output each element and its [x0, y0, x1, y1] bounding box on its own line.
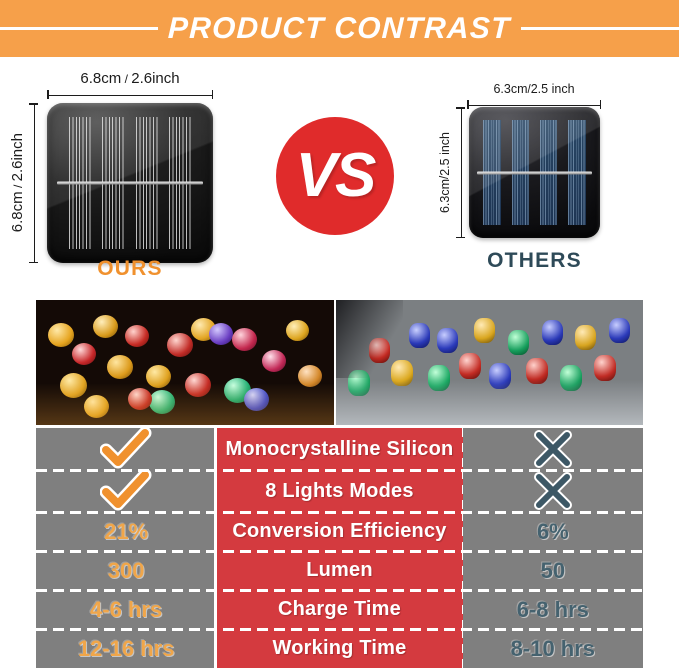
others-width-metric: 6.3cm	[493, 82, 527, 96]
others-width-dimension: 6.3cm/2.5 inch	[467, 81, 601, 109]
led-bulb	[72, 343, 96, 365]
feature-cell: 8 Lights Modes	[216, 470, 462, 512]
ours-width-cap-right	[212, 90, 214, 99]
led-bulb	[474, 318, 495, 343]
ours-height-line	[29, 103, 38, 263]
others-height-metric: 6.3cm	[438, 179, 452, 213]
banner-rule-left	[0, 27, 158, 30]
others-cell: 6%	[463, 512, 643, 551]
ours-value: 300	[108, 558, 145, 584]
feature-cell: Monocrystalline Silicon	[216, 428, 462, 470]
led-bulb	[209, 323, 233, 345]
photo-wire-overlay	[336, 300, 404, 378]
others-led-photo	[336, 300, 643, 425]
ours-value: 21%	[104, 519, 148, 545]
feature-cell: Conversion Efficiency	[216, 512, 462, 551]
ours-width-separator: /	[121, 72, 131, 86]
product-photo-strip	[36, 300, 643, 425]
feature-label: Working Time	[273, 637, 407, 660]
ours-width-dimension: 6.8cm / 2.6inch	[47, 71, 213, 99]
page-header-banner: PRODUCT CONTRAST	[0, 0, 679, 57]
panel-comparison-section: 6.8cm / 2.6inch 6.8cm / 2.6inch OURS VS	[0, 57, 679, 295]
others-cell: 50	[463, 551, 643, 590]
led-bulb	[286, 320, 309, 341]
ours-height-cap-top	[29, 103, 38, 105]
ours-width-line	[47, 90, 213, 99]
ours-value: 4-6 hrs	[90, 597, 162, 623]
table-row: 300 Lumen 50	[36, 551, 643, 590]
others-cell: 8-10 hrs	[463, 629, 643, 668]
others-height-label: 6.3cm/2.5 inch	[437, 132, 453, 213]
others-cell	[463, 428, 643, 470]
versus-badge: VS	[276, 117, 394, 235]
led-bulb	[107, 355, 133, 379]
ours-height-metric: 6.8cm	[9, 192, 26, 233]
ours-cell: 12-16 hrs	[36, 629, 216, 668]
others-label: OTHERS	[469, 249, 600, 273]
others-value: 8-10 hrs	[511, 636, 595, 662]
led-bulb	[262, 350, 286, 372]
others-solar-panel	[469, 107, 600, 238]
feature-label: Lumen	[306, 559, 373, 582]
check-icon	[100, 470, 152, 512]
table-row: Monocrystalline Silicon	[36, 428, 643, 470]
ours-height-separator: /	[11, 182, 25, 192]
comparison-table: Monocrystalline Silicon 8 Lights Modes	[36, 428, 643, 668]
others-cell	[463, 470, 643, 512]
page-title: PRODUCT CONTRAST	[158, 12, 522, 46]
others-value: 50	[541, 558, 565, 584]
ours-width-imperial: 2.6inch	[131, 70, 179, 87]
feature-cell: Working Time	[216, 629, 462, 668]
ours-led-photo	[36, 300, 334, 425]
banner-rule-right	[521, 27, 679, 30]
feature-cell: Charge Time	[216, 590, 462, 629]
others-busbar	[477, 171, 592, 174]
ours-cell: 4-6 hrs	[36, 590, 216, 629]
ours-cell: 300	[36, 551, 216, 590]
cross-icon	[532, 428, 574, 470]
ours-width-cap-left	[47, 90, 49, 99]
led-bulb	[48, 323, 74, 347]
others-height-separator: /	[439, 176, 451, 179]
ours-height-cap-bottom	[29, 262, 38, 264]
ours-height-label: 6.8cm / 2.6inch	[10, 133, 26, 232]
led-bulb	[167, 333, 193, 357]
feature-label: Monocrystalline Silicon	[225, 438, 453, 461]
led-bulb	[232, 328, 257, 351]
others-height-imperial: 2.5 inch	[438, 132, 452, 176]
led-bulb	[508, 330, 529, 355]
versus-text: VS	[296, 145, 375, 207]
ours-height-imperial: 2.6inch	[9, 133, 26, 181]
others-value: 6-8 hrs	[517, 597, 589, 623]
others-height-dimension: 6.3cm/2.5 inch	[437, 107, 465, 238]
cross-icon	[532, 470, 574, 512]
led-bulb	[459, 353, 481, 379]
others-height-line	[456, 107, 465, 238]
led-bulb	[93, 315, 118, 338]
ours-value: 12-16 hrs	[78, 636, 175, 662]
others-width-imperial: 2.5 inch	[531, 82, 575, 96]
table-row: 8 Lights Modes	[36, 470, 643, 512]
feature-label: Conversion Efficiency	[232, 520, 446, 543]
led-bulb	[125, 325, 149, 347]
ours-cell: 21%	[36, 512, 216, 551]
ours-label: OURS	[47, 257, 213, 281]
others-cell: 6-8 hrs	[463, 590, 643, 629]
ours-height-dimension: 6.8cm / 2.6inch	[10, 103, 38, 263]
ours-busbar	[57, 182, 203, 185]
ours-cell	[36, 470, 216, 512]
others-width-label: 6.3cm/2.5 inch	[493, 81, 574, 97]
others-height-cap-top	[456, 107, 465, 109]
photo-glow-overlay	[336, 380, 643, 425]
ours-cell	[36, 428, 216, 470]
feature-cell: Lumen	[216, 551, 462, 590]
others-value: 6%	[537, 519, 569, 545]
ours-solar-panel	[47, 103, 213, 263]
led-bulb	[575, 325, 596, 350]
feature-label: Charge Time	[278, 598, 401, 621]
ours-width-label: 6.8cm / 2.6inch	[80, 71, 179, 87]
led-bulb	[437, 328, 458, 353]
led-bulb	[542, 320, 563, 345]
led-bulb	[609, 318, 630, 343]
others-width-cap-left	[467, 100, 469, 109]
table-row: 4-6 hrs Charge Time 6-8 hrs	[36, 590, 643, 629]
led-bulb	[594, 355, 616, 381]
table-row: 21% Conversion Efficiency 6%	[36, 512, 643, 551]
feature-label: 8 Lights Modes	[265, 480, 413, 503]
ours-width-metric: 6.8cm	[80, 70, 121, 87]
others-height-cap-bottom	[456, 237, 465, 239]
table-row: 12-16 hrs Working Time 8-10 hrs	[36, 629, 643, 668]
others-width-cap-right	[600, 100, 602, 109]
photo-glow-overlay	[36, 383, 334, 426]
check-icon	[100, 428, 152, 470]
led-bulb	[409, 323, 430, 348]
